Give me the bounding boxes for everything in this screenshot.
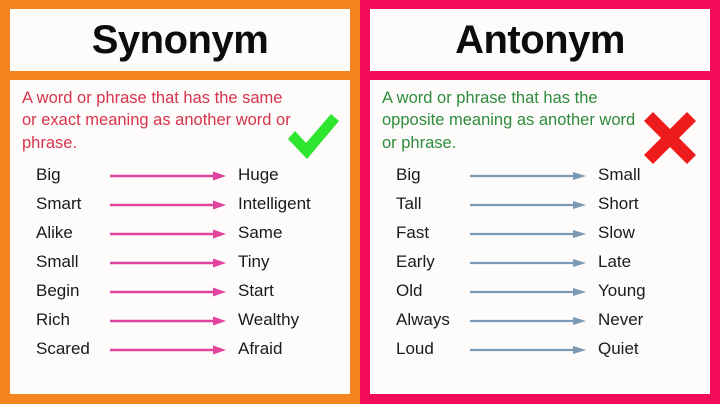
antonym-body: A word or phrase that has the opposite m… — [370, 80, 710, 394]
pair-row: Fast Slow — [382, 218, 700, 247]
target-word: Start — [228, 282, 340, 299]
synonym-antonym-infographic: Synonym A word or phrase that has the sa… — [0, 0, 720, 404]
arrow-right-icon — [108, 343, 228, 355]
pair-row: Rich Wealthy — [22, 305, 340, 334]
arrow-right-icon — [468, 169, 588, 181]
source-word: Big — [382, 166, 468, 183]
source-word: Always — [382, 311, 468, 328]
target-word: Short — [588, 195, 700, 212]
source-word: Scared — [22, 340, 108, 357]
pair-row: Tall Short — [382, 189, 700, 218]
target-word: Slow — [588, 224, 700, 241]
target-word: Quiet — [588, 340, 700, 357]
target-word: Wealthy — [228, 311, 340, 328]
antonym-pair-list: Big Small Tall — [382, 160, 700, 363]
target-word: Tiny — [228, 253, 340, 270]
pair-row: Big Huge — [22, 160, 340, 189]
source-word: Alike — [22, 224, 108, 241]
synonym-definition: A word or phrase that has the same or ex… — [22, 87, 292, 154]
source-word: Big — [22, 166, 108, 183]
source-word: Old — [382, 282, 468, 299]
arrow-right-icon — [108, 169, 228, 181]
synonym-body: A word or phrase that has the same or ex… — [10, 80, 350, 394]
target-word: Intelligent — [228, 195, 340, 212]
antonym-panel: Antonym A word or phrase that has the op… — [360, 0, 720, 404]
antonym-definition: A word or phrase that has the opposite m… — [382, 87, 652, 154]
source-word: Small — [22, 253, 108, 270]
pair-row: Loud Quiet — [382, 334, 700, 363]
pair-row: Early Late — [382, 247, 700, 276]
pair-row: Begin Start — [22, 276, 340, 305]
arrow-right-icon — [468, 227, 588, 239]
pair-row: Smart Intelligent — [22, 189, 340, 218]
arrow-right-icon — [468, 256, 588, 268]
arrow-right-icon — [468, 314, 588, 326]
target-word: Afraid — [228, 340, 340, 357]
pair-row: Scared Afraid — [22, 334, 340, 363]
arrow-right-icon — [468, 343, 588, 355]
arrow-right-icon — [108, 314, 228, 326]
pair-row: Small Tiny — [22, 247, 340, 276]
synonym-panel: Synonym A word or phrase that has the sa… — [0, 0, 360, 404]
source-word: Fast — [382, 224, 468, 241]
pair-row: Always Never — [382, 305, 700, 334]
arrow-right-icon — [468, 198, 588, 210]
arrow-right-icon — [108, 227, 228, 239]
source-word: Tall — [382, 195, 468, 212]
synonym-title-box: Synonym — [10, 9, 350, 71]
pair-row: Alike Same — [22, 218, 340, 247]
synonym-divider — [10, 71, 350, 80]
arrow-right-icon — [108, 285, 228, 297]
target-word: Never — [588, 311, 700, 328]
target-word: Huge — [228, 166, 340, 183]
source-word: Smart — [22, 195, 108, 212]
source-word: Begin — [22, 282, 108, 299]
antonym-title: Antonym — [455, 20, 625, 60]
synonym-pair-list: Big Huge Smart — [22, 160, 340, 363]
synonym-title: Synonym — [92, 20, 269, 60]
pair-row: Big Small — [382, 160, 700, 189]
arrow-right-icon — [108, 198, 228, 210]
target-word: Small — [588, 166, 700, 183]
target-word: Late — [588, 253, 700, 270]
source-word: Loud — [382, 340, 468, 357]
source-word: Rich — [22, 311, 108, 328]
arrow-right-icon — [468, 285, 588, 297]
target-word: Same — [228, 224, 340, 241]
pair-row: Old Young — [382, 276, 700, 305]
arrow-right-icon — [108, 256, 228, 268]
antonym-title-box: Antonym — [370, 9, 710, 71]
antonym-divider — [370, 71, 710, 80]
source-word: Early — [382, 253, 468, 270]
target-word: Young — [588, 282, 700, 299]
